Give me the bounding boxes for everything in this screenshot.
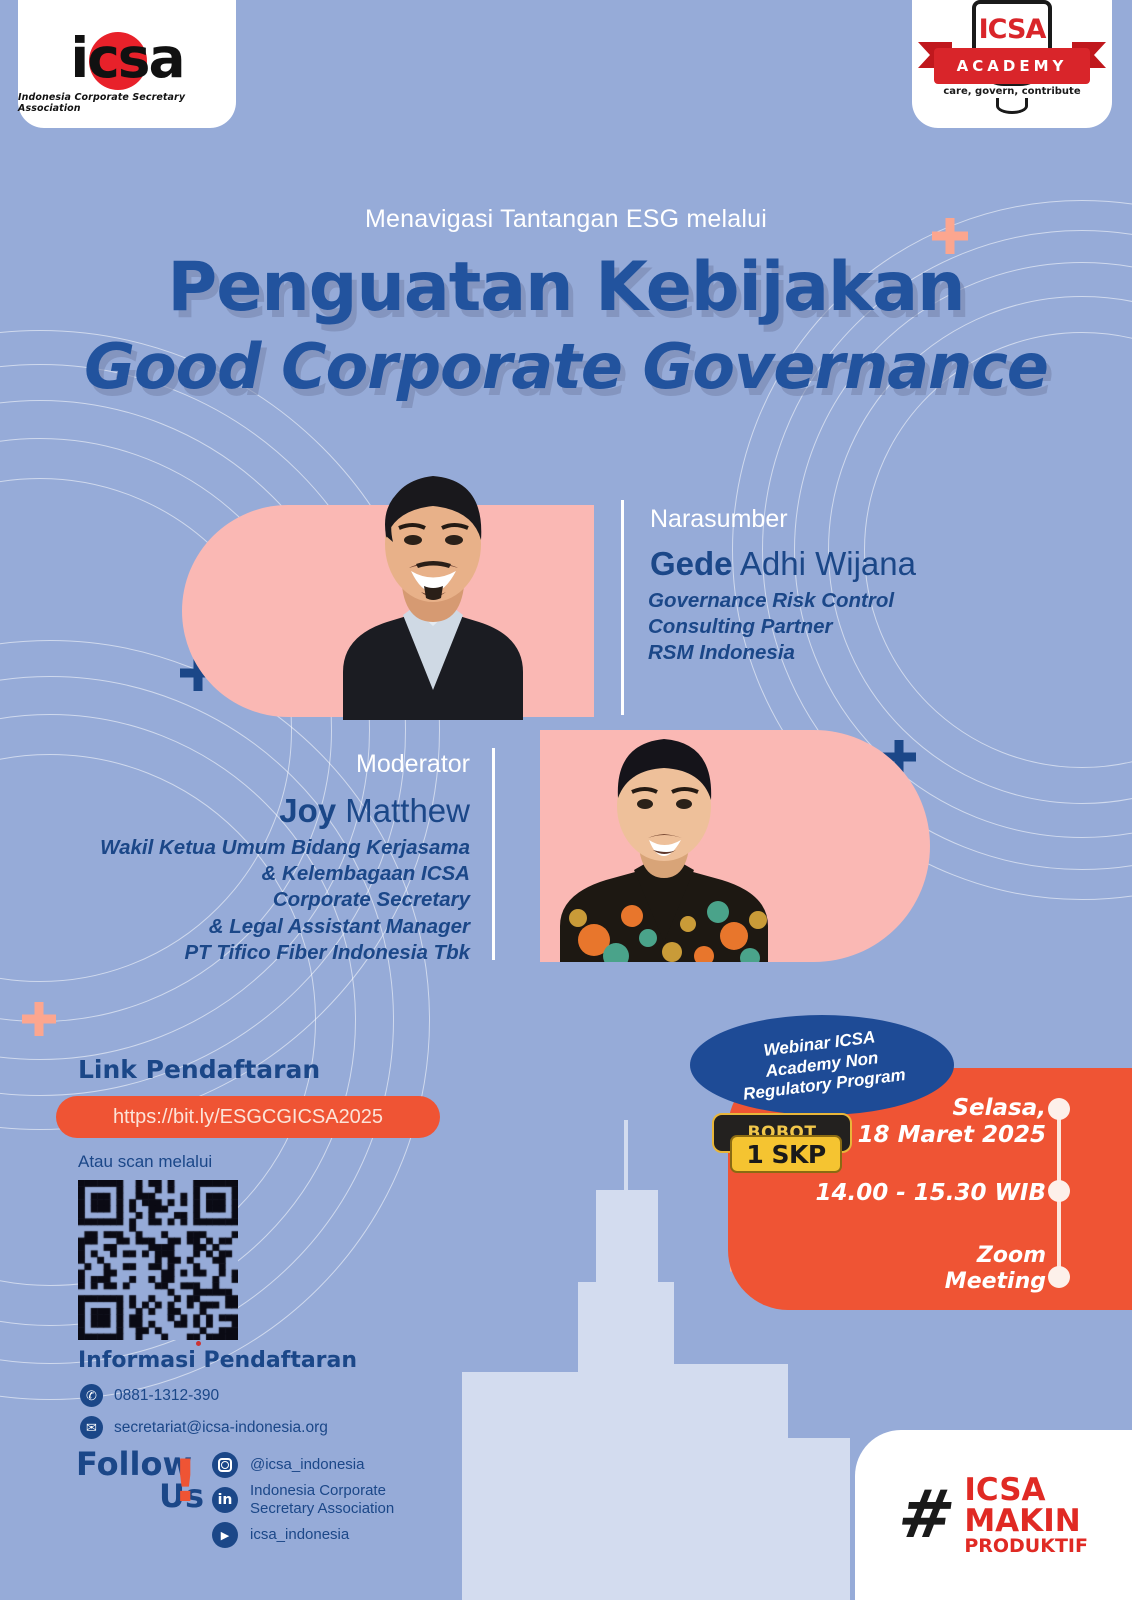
building	[674, 1364, 788, 1600]
email-address: secretariat@icsa-indonesia.org	[114, 1419, 328, 1437]
icsa-logo-tagline: Indonesia Corporate Secretary Associatio…	[18, 92, 236, 114]
speaker-first-name: Gede	[650, 545, 733, 582]
shield-bottom-icon	[996, 98, 1028, 114]
event-time: 14.00 - 15.30 WIB	[815, 1180, 1046, 1207]
headline-line-2: Good Corporate Governance	[0, 330, 1132, 403]
speaker-role-label: Narasumber	[650, 505, 788, 534]
building	[788, 1438, 850, 1600]
hashtag-word-3: PRODUKTIF	[964, 1537, 1088, 1556]
moderator-affiliation: Wakil Ketua Umum Bidang Kerjasama & Kele…	[0, 835, 470, 966]
contact-title: Informasi Pendaftaran	[78, 1348, 357, 1373]
academy-tagline: care, govern, contribute	[928, 86, 1096, 97]
qr-accent-dot	[196, 1341, 201, 1346]
envelope-icon: ✉	[80, 1416, 103, 1439]
academy-title: ICSA	[972, 14, 1052, 45]
timeline-dot	[1048, 1098, 1070, 1120]
moderator-name: Joy Matthew	[0, 792, 470, 830]
speaker-rest-name: Adhi Wijana	[733, 545, 916, 582]
hashtag-word-1: ICSA	[964, 1475, 1088, 1506]
speaker-divider	[621, 500, 624, 715]
hashtag-campaign-logo: # ICSA MAKIN PRODUKTIF	[855, 1430, 1132, 1600]
event-timeline	[1048, 1098, 1070, 1288]
headline-kicker: Menavigasi Tantangan ESG melalui	[0, 205, 1132, 234]
exclamation-mark: !	[172, 1452, 198, 1510]
whatsapp-contact[interactable]: ✆ 0881-1312-390	[80, 1384, 219, 1407]
registration-link-button[interactable]: https://bit.ly/ESGCGICSA2025	[56, 1096, 440, 1138]
event-date: Selasa, 18 Maret 2025	[858, 1095, 1046, 1149]
moderator-role-label: Moderator	[0, 750, 470, 779]
registration-title: Link Pendaftaran	[78, 1055, 320, 1084]
ribbon-banner: ACADEMY	[934, 48, 1090, 84]
instagram-row[interactable]: @icsa_indonesia	[212, 1452, 364, 1478]
plus-mark-icon	[22, 1002, 56, 1036]
moderator-photo	[522, 712, 806, 962]
building	[462, 1372, 580, 1600]
antenna	[624, 1120, 628, 1194]
youtube-handle: icsa_indonesia	[250, 1526, 349, 1544]
speaker-photo	[283, 440, 583, 720]
qr-code[interactable]	[78, 1180, 238, 1340]
whatsapp-icon: ✆	[80, 1384, 103, 1407]
linkedin-row[interactable]: in Indonesia Corporate Secretary Associa…	[212, 1482, 394, 1518]
headline-line-1: Penguatan Kebijakan	[0, 248, 1132, 327]
linkedin-handle: Indonesia Corporate Secretary Associatio…	[250, 1482, 394, 1518]
speaker-affiliation: Governance Risk Control Consulting Partn…	[648, 588, 894, 667]
poster-canvas: icsa Indonesia Corporate Secretary Assoc…	[0, 0, 1132, 1600]
hash-symbol: #	[895, 1485, 959, 1544]
icsa-wordmark: icsa	[42, 27, 212, 89]
event-platform: Zoom Meeting	[945, 1243, 1046, 1295]
building	[578, 1282, 674, 1600]
icsa-logo: icsa Indonesia Corporate Secretary Assoc…	[18, 0, 236, 128]
icsa-logo-text: icsa	[42, 27, 212, 89]
building	[596, 1190, 658, 1290]
moderator-divider	[492, 748, 495, 960]
credit-badge: BOBOT 1 SKP	[712, 1113, 852, 1175]
hashtag-word-2: MAKIN	[964, 1506, 1088, 1537]
timeline-dot	[1048, 1266, 1070, 1288]
credit-value: 1 SKP	[730, 1135, 842, 1173]
qr-scan-label: Atau scan melalui	[78, 1152, 212, 1172]
hashtag-words: ICSA MAKIN PRODUKTIF	[964, 1475, 1088, 1556]
instagram-handle: @icsa_indonesia	[250, 1456, 364, 1474]
moderator-rest-name: Matthew	[336, 792, 470, 829]
instagram-icon	[212, 1452, 238, 1478]
youtube-icon: ▶	[212, 1522, 238, 1548]
email-contact[interactable]: ✉ secretariat@icsa-indonesia.org	[80, 1416, 328, 1439]
academy-subtitle: ACADEMY	[957, 57, 1068, 75]
speaker-name: Gede Adhi Wijana	[650, 545, 916, 583]
icsa-academy-logo: ICSA ACADEMY care, govern, contribute	[912, 0, 1112, 128]
whatsapp-number: 0881-1312-390	[114, 1387, 219, 1405]
youtube-row[interactable]: ▶ icsa_indonesia	[212, 1522, 349, 1548]
moderator-first-name: Joy	[279, 792, 336, 829]
linkedin-icon: in	[212, 1487, 238, 1513]
timeline-dot	[1048, 1180, 1070, 1202]
